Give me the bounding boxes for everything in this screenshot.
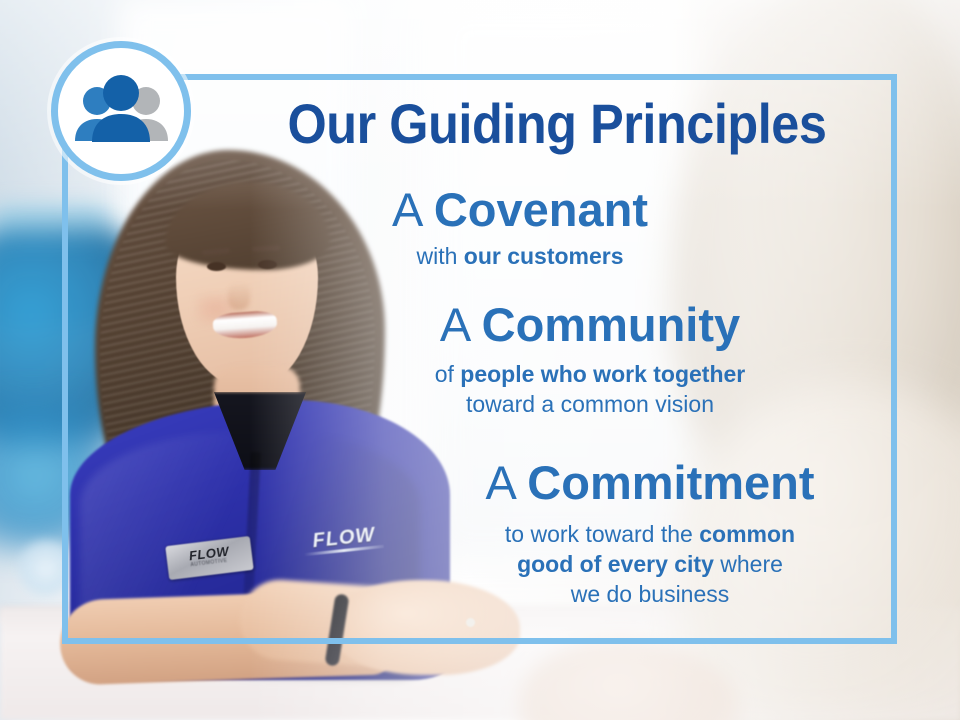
principle-community-article: A bbox=[440, 298, 482, 351]
subline-part: we do business bbox=[571, 581, 730, 607]
banner-root: FLOW AUTOMOTIVE FLOW Our Guiding Princip… bbox=[0, 0, 960, 720]
page-title: Our Guiding Principles bbox=[247, 96, 868, 152]
principle-community-headline: A Community bbox=[330, 300, 850, 349]
principle-community-noun: Community bbox=[482, 298, 741, 351]
principle-commitment-headline: A Commitment bbox=[400, 458, 900, 507]
principle-commitment-subline-1: good of every city where bbox=[400, 550, 900, 580]
principle-community-subline-1: toward a common vision bbox=[330, 390, 850, 420]
principle-covenant-subtext: with our customers bbox=[300, 242, 740, 272]
subline-part-bold: good of every city bbox=[517, 551, 714, 577]
principle-community-subline-0: of people who work together bbox=[330, 360, 850, 390]
principle-community: A Community of people who work together … bbox=[330, 300, 850, 420]
principle-community-subtext: of people who work together toward a com… bbox=[330, 360, 850, 420]
principle-covenant: A Covenant with our customers bbox=[300, 185, 740, 272]
subline-part-bold: our customers bbox=[464, 243, 624, 269]
principle-covenant-headline: A Covenant bbox=[300, 185, 740, 234]
people-group-icon bbox=[51, 41, 191, 181]
subline-part: toward a common vision bbox=[466, 391, 714, 417]
subline-part: of bbox=[435, 361, 461, 387]
principle-commitment-subline-2: we do business bbox=[400, 580, 900, 610]
subline-part-bold: people who work together bbox=[460, 361, 745, 387]
principle-commitment-noun: Commitment bbox=[527, 456, 814, 509]
principle-commitment-subline-0: to work toward the common bbox=[400, 520, 900, 550]
subline-part: where bbox=[714, 551, 783, 577]
principle-covenant-noun: Covenant bbox=[434, 183, 648, 236]
principle-commitment-article: A bbox=[485, 456, 527, 509]
subline-part: to work toward the bbox=[505, 521, 699, 547]
principle-commitment: A Commitment to work toward the common g… bbox=[400, 458, 900, 610]
principle-commitment-subtext: to work toward the common good of every … bbox=[400, 520, 900, 610]
subline-part-bold: common bbox=[699, 521, 795, 547]
principle-covenant-subline-0: with our customers bbox=[300, 242, 740, 272]
principle-covenant-article: A bbox=[392, 183, 434, 236]
subline-part: with bbox=[416, 243, 463, 269]
